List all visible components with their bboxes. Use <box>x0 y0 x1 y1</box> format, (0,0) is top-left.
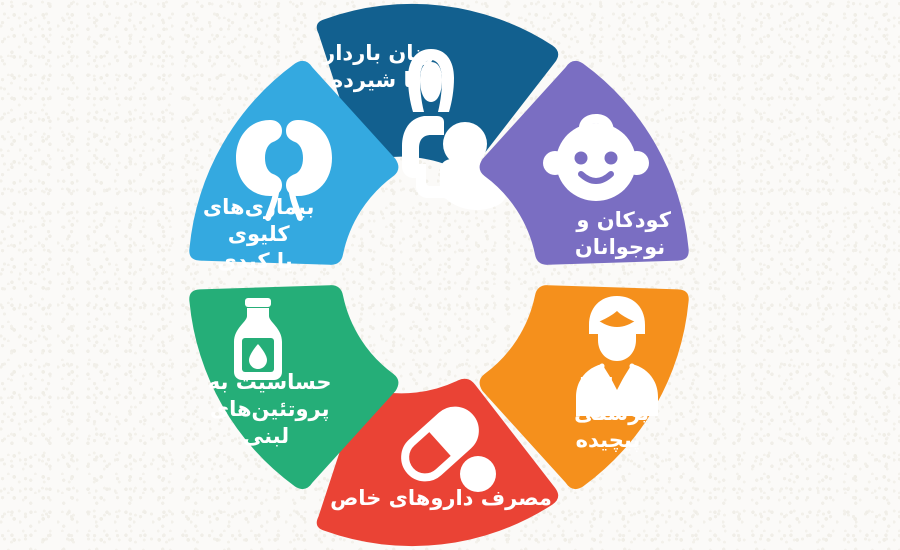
segment-medication-label: مصرف داروهای خاص <box>330 486 552 510</box>
segment-medical-label: شرایط پزشکی پیچیده <box>567 374 649 452</box>
donut-wheel-diagram: زنان باردار یا شیرده کودکان و نوجوانان <box>0 0 900 550</box>
